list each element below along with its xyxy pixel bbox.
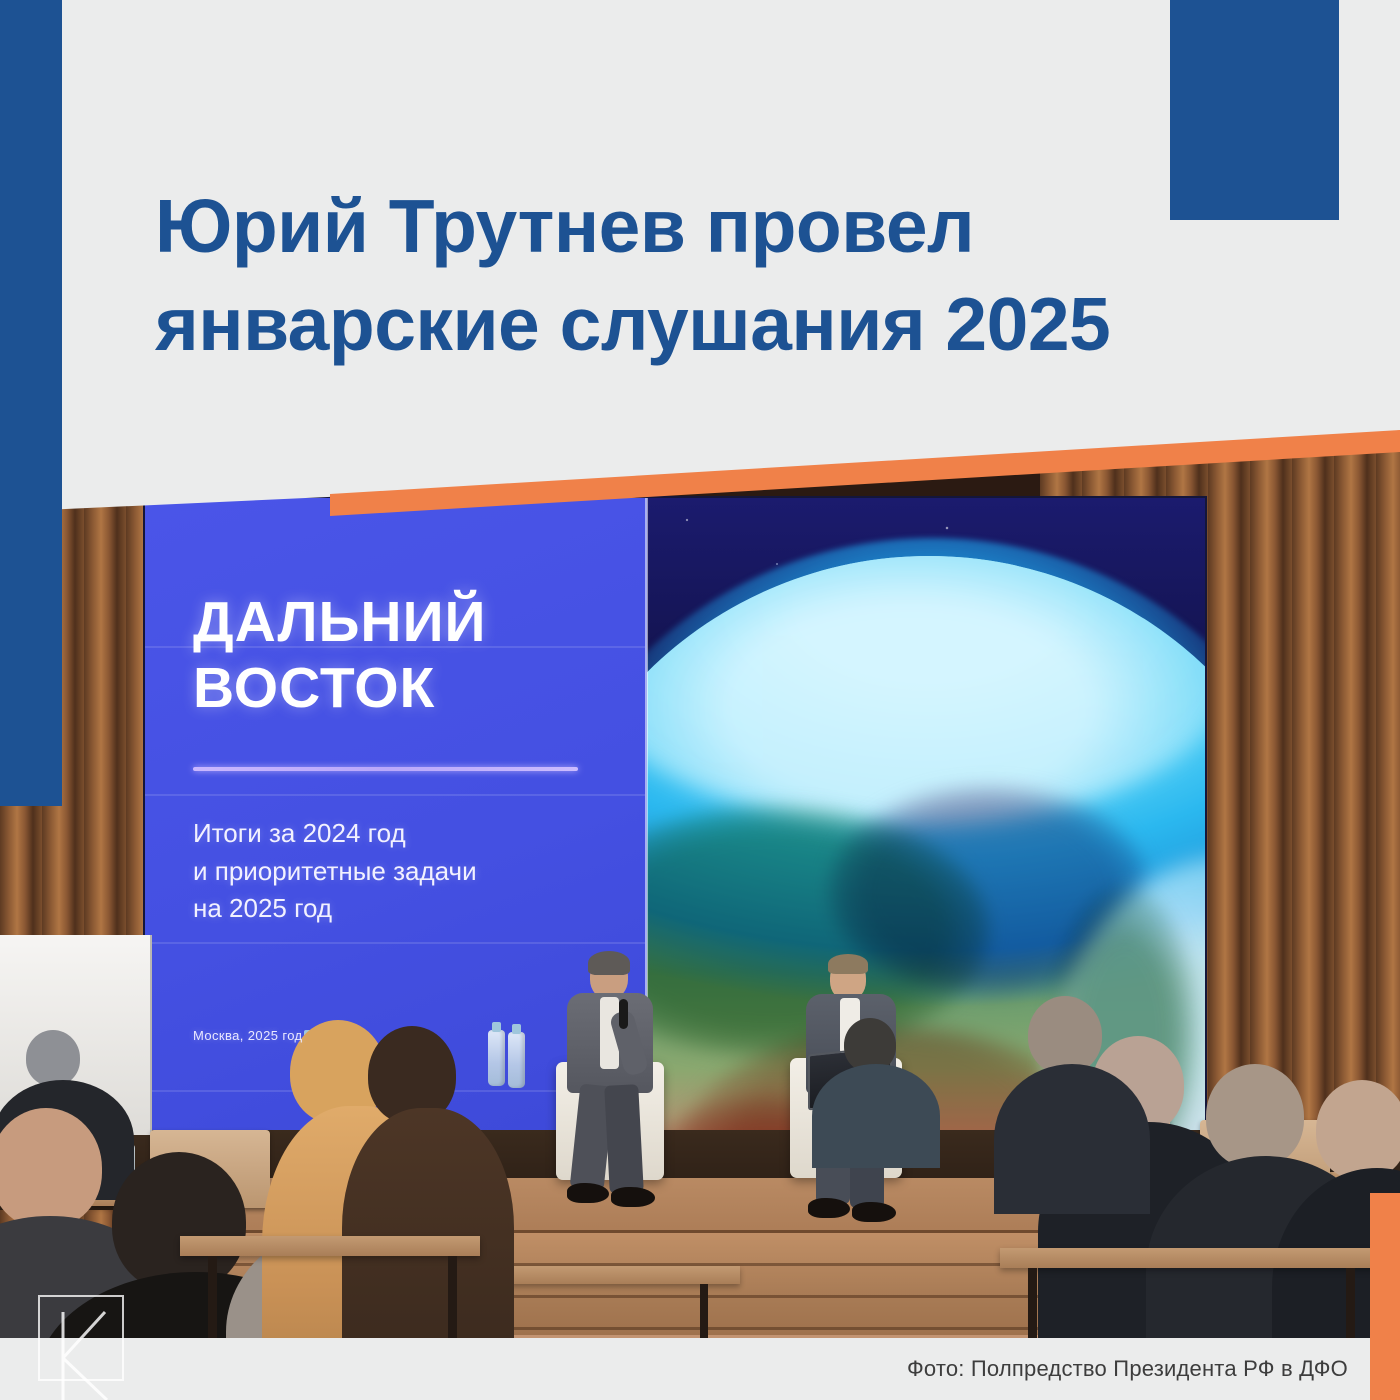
slide-title-line-1: ДАЛЬНИЙ bbox=[193, 590, 603, 656]
event-photo: ДАЛЬНИЙ ВОСТОК Итоги за 2024 год и приор… bbox=[0, 430, 1400, 1340]
desk-front-left bbox=[180, 1236, 480, 1256]
slide-subtitle: Итоги за 2024 год и приоритетные задачи … bbox=[193, 815, 603, 928]
headline-line-2: январские слушания 2025 bbox=[155, 276, 1195, 374]
slide-title: ДАЛЬНИЙ ВОСТОК bbox=[193, 590, 603, 721]
top-right-blue-block bbox=[1170, 0, 1339, 220]
speaker-right-shoe-1 bbox=[808, 1198, 850, 1218]
microphone-icon bbox=[619, 999, 628, 1029]
speaker-right-shoe-2 bbox=[852, 1202, 896, 1222]
slide-subtitle-line-1: Итоги за 2024 год bbox=[193, 815, 603, 853]
desk-leg-8 bbox=[448, 1256, 457, 1340]
slide-place-label: Москва, 2025 год bbox=[193, 1028, 303, 1043]
desk-leg-7 bbox=[208, 1256, 217, 1340]
slide-title-line-2: ВОСТОК bbox=[193, 656, 603, 722]
speaker-left-leg-2 bbox=[604, 1084, 644, 1194]
desk-front-right bbox=[1000, 1248, 1400, 1268]
page-title: Юрий Трутнев провел январские слушания 2… bbox=[155, 178, 1195, 373]
speaker-left-shoe-1 bbox=[567, 1183, 609, 1203]
speaker-left-hair bbox=[588, 951, 630, 975]
slide-divider bbox=[193, 767, 578, 771]
social-card: Юрий Трутнев провел январские слушания 2… bbox=[0, 0, 1400, 1400]
desk-leg-9 bbox=[1028, 1268, 1037, 1340]
speaker-right-hair bbox=[828, 954, 868, 974]
photo-content: ДАЛЬНИЙ ВОСТОК Итоги за 2024 год и приор… bbox=[0, 430, 1400, 1340]
slide-subtitle-line-3: на 2025 год bbox=[193, 890, 603, 928]
slide-text-block: ДАЛЬНИЙ ВОСТОК Итоги за 2024 год и приор… bbox=[193, 590, 603, 928]
orange-right-block bbox=[1370, 1193, 1400, 1400]
bottle-stage-2 bbox=[508, 1032, 525, 1088]
headline-line-1: Юрий Трутнев провел bbox=[155, 178, 1195, 276]
speaker-left-shoe-2 bbox=[611, 1187, 655, 1207]
bottle-stage-1 bbox=[488, 1030, 505, 1086]
desk-leg-10 bbox=[1346, 1268, 1355, 1340]
photo-credit: Фото: Полпредство Президента РФ в ДФО bbox=[907, 1356, 1348, 1382]
footer-bar: Фото: Полпредство Президента РФ в ДФО bbox=[0, 1338, 1400, 1400]
k-letter-icon bbox=[23, 1306, 143, 1400]
brand-logo bbox=[38, 1295, 124, 1381]
desk-leg-6 bbox=[700, 1284, 708, 1340]
left-blue-bar bbox=[0, 0, 62, 806]
slide-subtitle-line-2: и приоритетные задачи bbox=[193, 853, 603, 891]
